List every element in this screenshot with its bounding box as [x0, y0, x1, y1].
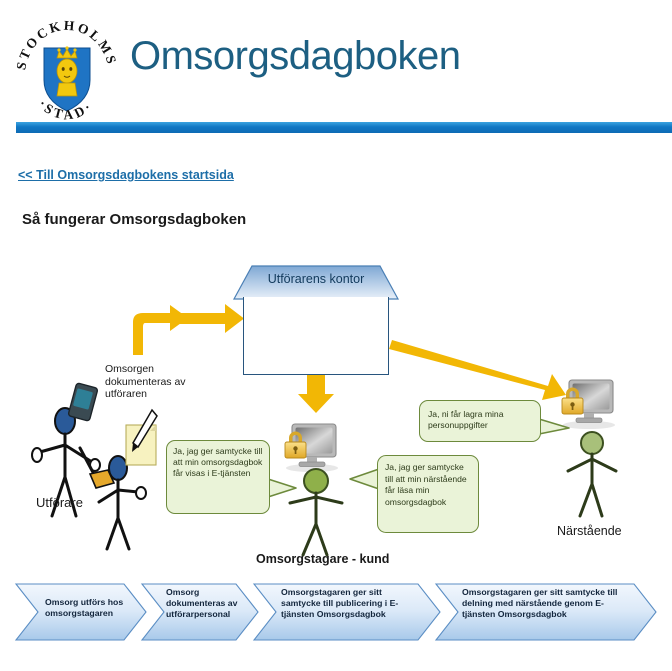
office-box	[243, 297, 389, 375]
bubble-tail-store	[538, 419, 569, 434]
computer-relative-icon	[562, 380, 615, 429]
speech-bubble-consent-share-text: Ja, jag ger samtycke till att min närstå…	[385, 462, 471, 508]
note-documented-by: Omsorgen dokumenteras av utföraren	[105, 363, 201, 401]
person-narstaende-icon	[568, 432, 616, 516]
caption-utforare: Utförare	[36, 495, 83, 510]
process-step-3-label: Omsorgstagaren ger sitt samtycke till pu…	[281, 587, 421, 619]
caption-omsorgstagare: Omsorgstagare - kund	[256, 552, 389, 566]
speech-bubble-consent-publish: Ja, jag ger samtycke till att min omsorg…	[166, 440, 270, 514]
caption-narstaende: Närstående	[557, 524, 622, 538]
page-root: STOCKHOLMS ·STAD· Omsorgsdagboken << Til…	[0, 0, 672, 671]
process-flow: Omsorg utförs hos omsorgstagaren Omsorg …	[0, 578, 672, 654]
arrow-bent-icon	[133, 305, 188, 355]
speech-bubble-consent-store-text: Ja, ni får lagra mina personuppgifter	[428, 409, 532, 432]
bubble-tail-share	[350, 469, 379, 489]
process-step-2-label: Omsorg dokumenteras av utförarpersonal	[166, 587, 252, 619]
arrow-right-icon	[178, 304, 244, 333]
speech-bubble-consent-publish-text: Ja, jag ger samtycke till att min omsorg…	[173, 446, 263, 480]
office-label: Utförarens kontor	[234, 272, 398, 286]
speech-bubble-consent-store: Ja, ni får lagra mina personuppgifter	[419, 400, 541, 442]
speech-bubble-consent-share: Ja, jag ger samtycke till att min närstå…	[377, 455, 479, 533]
process-step-4-label: Omsorgstagaren ger sitt samtycke till de…	[462, 587, 630, 619]
bubble-tail-publish	[268, 479, 296, 497]
arrow-diagonal-icon	[389, 340, 566, 400]
process-step-1-label: Omsorg utförs hos omsorgstagaren	[45, 597, 141, 619]
arrow-down-icon	[298, 372, 334, 413]
handheld-device-icon	[68, 383, 98, 422]
computer-customer-icon	[285, 424, 338, 472]
person-omsorgstagare-icon	[290, 469, 342, 555]
